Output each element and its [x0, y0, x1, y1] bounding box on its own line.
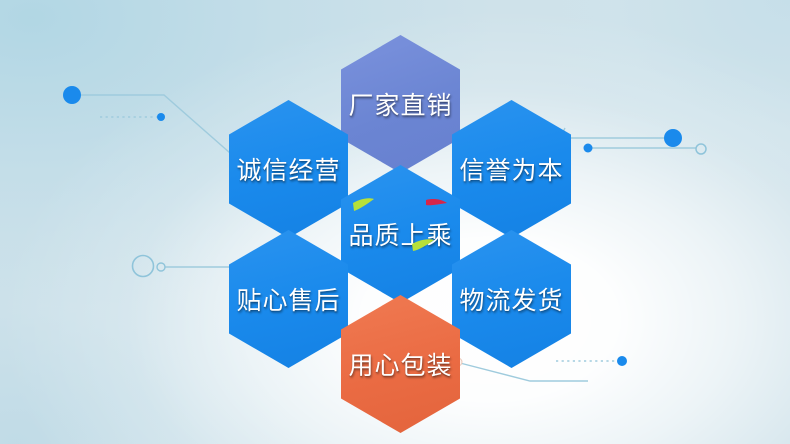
hex-label-packaging: 用心包装 [348, 346, 452, 382]
hex-cell-factory-direct[interactable]: 厂家直销 [341, 35, 460, 173]
hex-cell-logistics[interactable]: 物流发货 [452, 230, 571, 368]
hex-cell-packaging[interactable]: 用心包装 [341, 295, 460, 433]
honeycomb-group: 厂家直销 诚信经营 信誉为本 品质上乘 贴心售后 物流发货 用心包装 [0, 0, 790, 444]
hex-cell-reputation[interactable]: 信誉为本 [452, 100, 571, 238]
hex-label-factory-direct: 厂家直销 [348, 86, 452, 122]
hex-label-aftersales: 贴心售后 [236, 281, 340, 317]
hex-cell-integrity[interactable]: 诚信经营 [229, 100, 348, 238]
hex-label-reputation: 信誉为本 [459, 151, 563, 187]
hex-label-integrity: 诚信经营 [236, 151, 340, 187]
hex-label-quality: 品质上乘 [348, 216, 452, 252]
slide-canvas: 厂家直销 诚信经营 信誉为本 品质上乘 贴心售后 物流发货 用心包装 [0, 0, 790, 444]
hex-cell-quality[interactable]: 品质上乘 [341, 165, 460, 303]
hex-label-logistics: 物流发货 [459, 281, 563, 317]
hex-cell-aftersales[interactable]: 贴心售后 [229, 230, 348, 368]
